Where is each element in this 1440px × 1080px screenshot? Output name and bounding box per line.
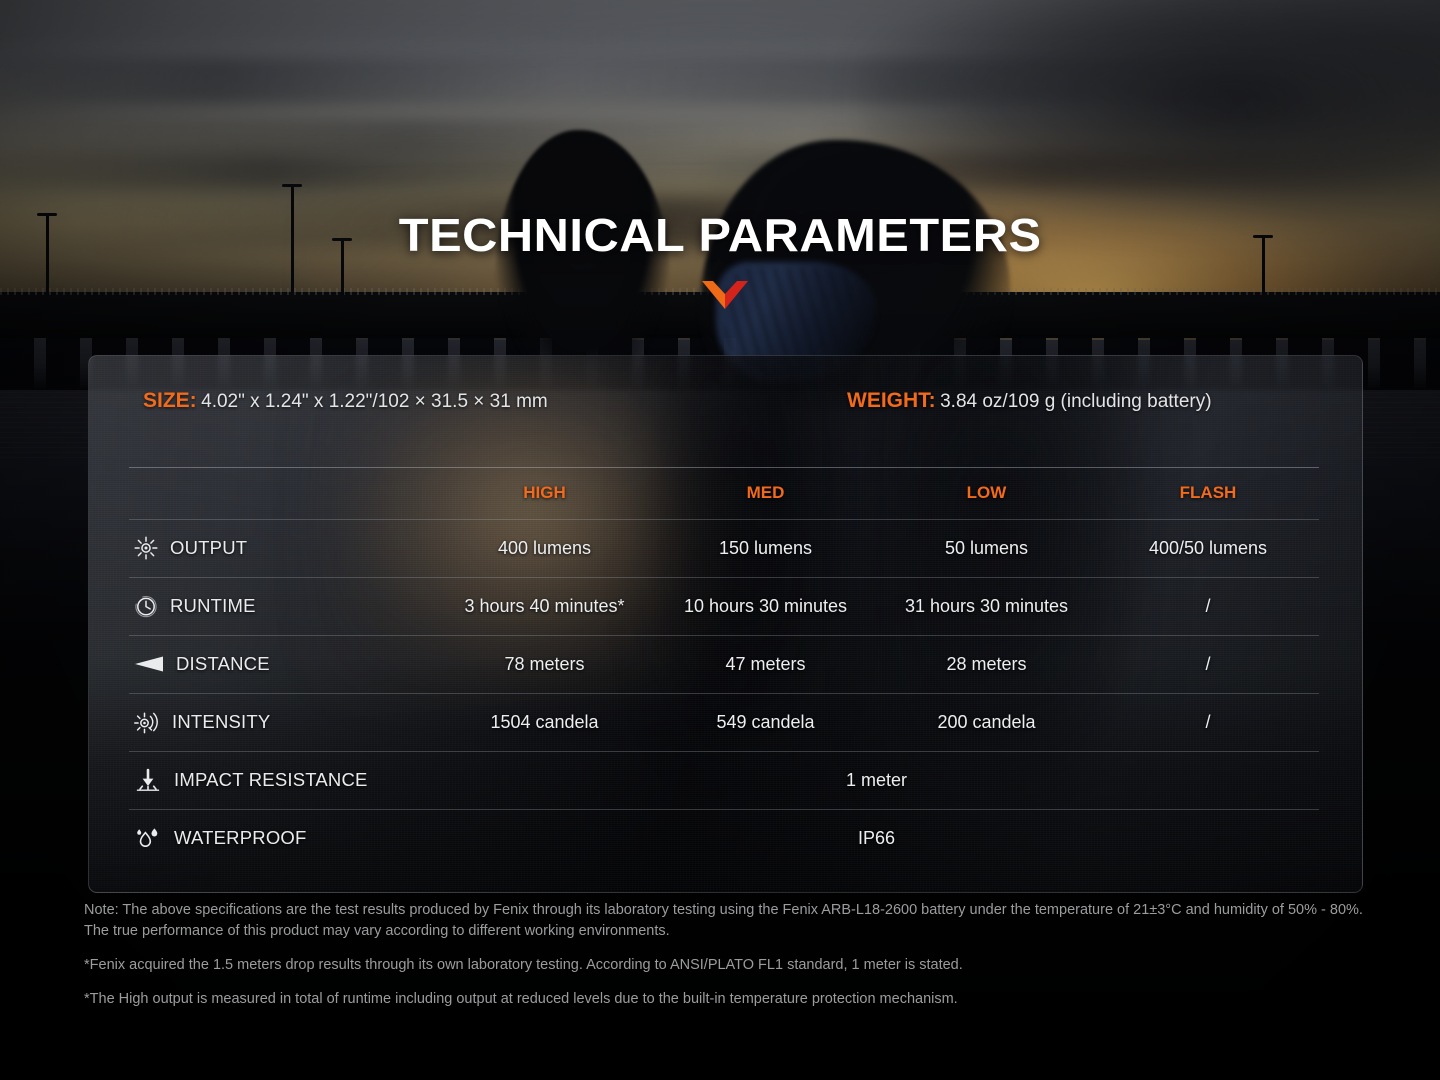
row-label-text: RUNTIME (170, 597, 256, 616)
weight-value: 3.84 oz/109 g (including battery) (940, 391, 1211, 412)
row-label-text: OUTPUT (170, 539, 247, 558)
cell-distance-med: 47 meters (655, 635, 876, 693)
weight-spec: WEIGHT: 3.84 oz/109 g (including battery… (847, 389, 1212, 413)
size-value: 4.02" x 1.24" x 1.22"/102 × 31.5 × 31 mm (201, 391, 548, 412)
specifications-card: SIZE: 4.02" x 1.24" x 1.22"/102 × 31.5 ×… (88, 355, 1363, 893)
cell-intensity-low: 200 candela (876, 693, 1097, 751)
row-label-intensity: INTENSITY (129, 693, 434, 751)
row-label-distance: DISTANCE (129, 635, 434, 693)
weight-label: WEIGHT: (847, 389, 936, 412)
cell-runtime-flash: / (1097, 577, 1319, 635)
column-header-high: HIGH (434, 467, 655, 519)
column-header-med: MED (655, 467, 876, 519)
size-weight-row: SIZE: 4.02" x 1.24" x 1.22"/102 × 31.5 ×… (89, 356, 1362, 456)
cell-distance-low: 28 meters (876, 635, 1097, 693)
size-spec: SIZE: 4.02" x 1.24" x 1.22"/102 × 31.5 ×… (143, 389, 548, 413)
footnote-high-output: *The High output is measured in total of… (84, 989, 1374, 1010)
table-row: RUNTIME 3 hours 40 minutes* 10 hours 30 … (129, 577, 1319, 635)
footnotes: Note: The above specifications are the t… (84, 900, 1374, 1010)
page-title: TECHNICAL PARAMETERS (399, 208, 1042, 262)
row-label-waterproof: WATERPROOF (129, 809, 434, 867)
table-row: IMPACT RESISTANCE 1 meter (129, 751, 1319, 809)
row-label-text: DISTANCE (176, 655, 270, 674)
cell-distance-high: 78 meters (434, 635, 655, 693)
cell-runtime-low: 31 hours 30 minutes (876, 577, 1097, 635)
cell-intensity-high: 1504 candela (434, 693, 655, 751)
table-row: OUTPUT 400 lumens 150 lumens 50 lumens 4… (129, 519, 1319, 577)
cell-intensity-med: 549 candela (655, 693, 876, 751)
page-title-wrap: TECHNICAL PARAMETERS (0, 208, 1440, 262)
cell-intensity-flash: / (1097, 693, 1319, 751)
column-header-low: LOW (876, 467, 1097, 519)
cell-runtime-med: 10 hours 30 minutes (655, 577, 876, 635)
cell-runtime-high: 3 hours 40 minutes* (434, 577, 655, 635)
footnote-drop-test: *Fenix acquired the 1.5 meters drop resu… (84, 955, 1374, 976)
light-intensity-icon (133, 709, 161, 735)
technical-parameters-page: TECHNICAL PARAMETERS SIZE: 4.02" x 1.24"… (0, 0, 1440, 1080)
row-label-text: IMPACT RESISTANCE (174, 771, 368, 790)
parameters-table: HIGH MED LOW FLASH (129, 461, 1319, 867)
row-label-runtime: RUNTIME (129, 577, 434, 635)
water-drop-icon (133, 825, 163, 851)
cell-output-flash: 400/50 lumens (1097, 519, 1319, 577)
beam-distance-icon (133, 651, 165, 677)
cell-waterproof-value: IP66 (434, 809, 1319, 867)
row-label-text: WATERPROOF (174, 829, 307, 848)
table-header-row: HIGH MED LOW FLASH (129, 467, 1319, 519)
cell-impact-resistance-value: 1 meter (434, 751, 1319, 809)
table-row: DISTANCE 78 meters 47 meters 28 meters / (129, 635, 1319, 693)
table-row: WATERPROOF IP66 (129, 809, 1319, 867)
brightness-sun-icon (133, 535, 159, 561)
chevron-down-icon (702, 281, 748, 309)
column-header-blank (129, 467, 434, 519)
row-label-text: INTENSITY (172, 713, 270, 732)
table-row: INTENSITY 1504 candela 549 candela 200 c… (129, 693, 1319, 751)
footnote-note: Note: The above specifications are the t… (84, 900, 1374, 942)
cell-output-high: 400 lumens (434, 519, 655, 577)
cell-distance-flash: / (1097, 635, 1319, 693)
column-header-flash: FLASH (1097, 467, 1319, 519)
row-label-impact-resistance: IMPACT RESISTANCE (129, 751, 434, 809)
cell-output-low: 50 lumens (876, 519, 1097, 577)
cell-output-med: 150 lumens (655, 519, 876, 577)
impact-arrow-icon (133, 767, 163, 793)
size-label: SIZE: (143, 389, 197, 412)
clock-icon (133, 593, 159, 619)
row-label-output: OUTPUT (129, 519, 434, 577)
